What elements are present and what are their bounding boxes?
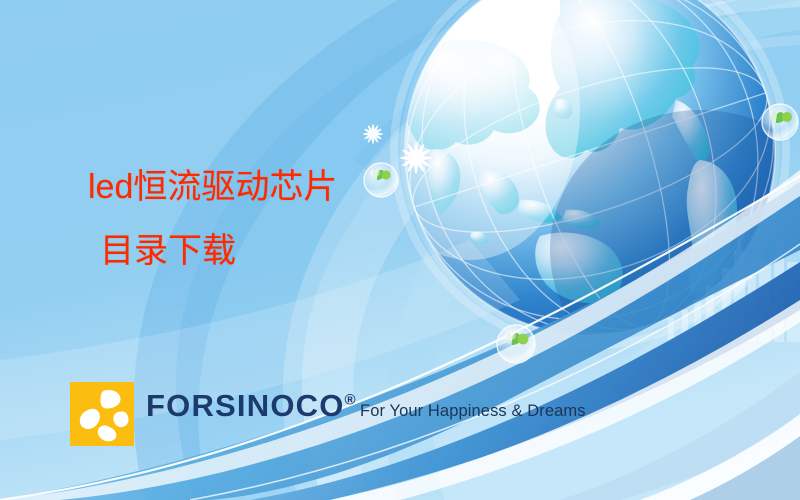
headline-line-2: 目录下载 <box>100 230 337 272</box>
brand-tagline: For Your Happiness & Dreams <box>360 402 586 420</box>
registered-trademark-icon: ® <box>345 392 356 409</box>
headline-line-1: led恒流驱动芯片 <box>88 168 337 206</box>
poster-headline: led恒流驱动芯片 目录下载 <box>88 166 337 272</box>
brand-name-text: FORSINOCO <box>146 388 345 423</box>
bubble-with-green-sprout-left <box>497 325 535 363</box>
logo-wordmark: FORSINOCO® For Your Happiness & Dreams <box>146 382 586 423</box>
bubble-with-green-sprout-right <box>762 104 798 140</box>
forsinoco-pinwheel-icon <box>70 382 134 446</box>
bubble-with-green-sprout-center <box>364 163 398 197</box>
company-logo: FORSINOCO® For Your Happiness & Dreams <box>70 382 586 446</box>
poster-canvas: led恒流驱动芯片 目录下载 FORSINOCO® For Your Happi… <box>0 0 800 500</box>
brand-name: FORSINOCO® <box>146 388 356 423</box>
